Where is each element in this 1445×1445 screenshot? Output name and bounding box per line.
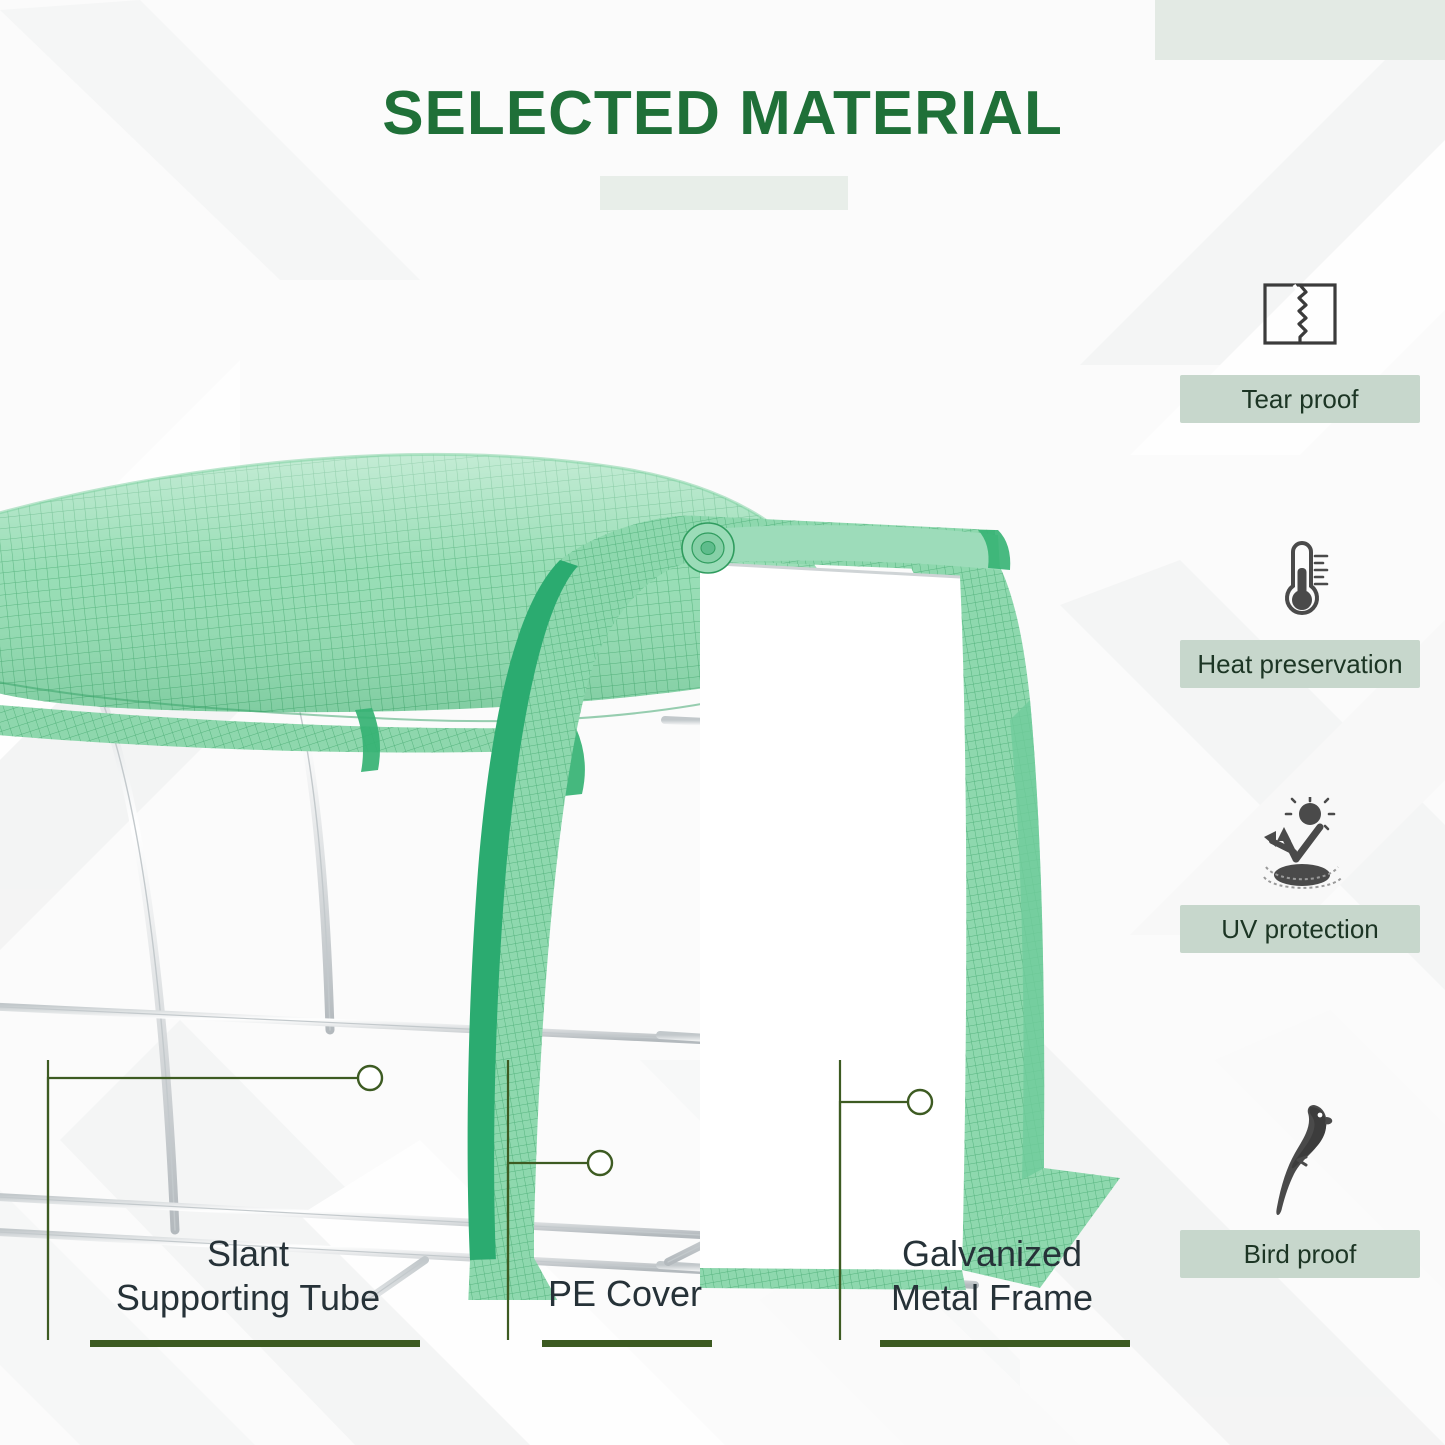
feature-item-bird-proof[interactable]: Bird proof xyxy=(1155,1085,1445,1295)
feature-badge-heat-preservation: Heat preservation xyxy=(1180,640,1420,688)
title-accent-bar xyxy=(600,176,848,210)
callout-rule-pe-cover xyxy=(542,1340,712,1347)
feature-badge-uv-protection: UV protection xyxy=(1180,905,1420,953)
feature-item-heat-preservation[interactable]: Heat preservation xyxy=(1155,520,1445,730)
feature-item-uv-protection[interactable]: UV protection xyxy=(1155,785,1445,995)
callout-rule-slant-supporting-tube xyxy=(90,1340,420,1347)
feature-list: Tear proof Heat preservati xyxy=(1155,255,1445,1295)
thermometer-icon xyxy=(1155,520,1445,640)
bird-icon xyxy=(1155,1085,1445,1225)
infographic-page: SELECTED MATERIAL xyxy=(0,0,1445,1445)
callout-label-pe-cover: PE Cover xyxy=(510,1272,740,1316)
callout-labels: Slant Supporting Tube PE Cover Galvanize… xyxy=(0,1060,1160,1445)
callout-label-slant-supporting-tube: Slant Supporting Tube xyxy=(48,1232,448,1320)
torn-fabric-icon xyxy=(1155,255,1445,375)
callout-label-galvanized-metal-frame: Galvanized Metal Frame xyxy=(842,1232,1142,1320)
uv-sun-icon xyxy=(1155,785,1445,905)
page-title: SELECTED MATERIAL xyxy=(0,78,1445,149)
feature-badge-bird-proof: Bird proof xyxy=(1180,1230,1420,1278)
callout-rule-galvanized-metal-frame xyxy=(880,1340,1130,1347)
feature-badge-tear-proof: Tear proof xyxy=(1180,375,1420,423)
feature-item-tear-proof[interactable]: Tear proof xyxy=(1155,255,1445,465)
